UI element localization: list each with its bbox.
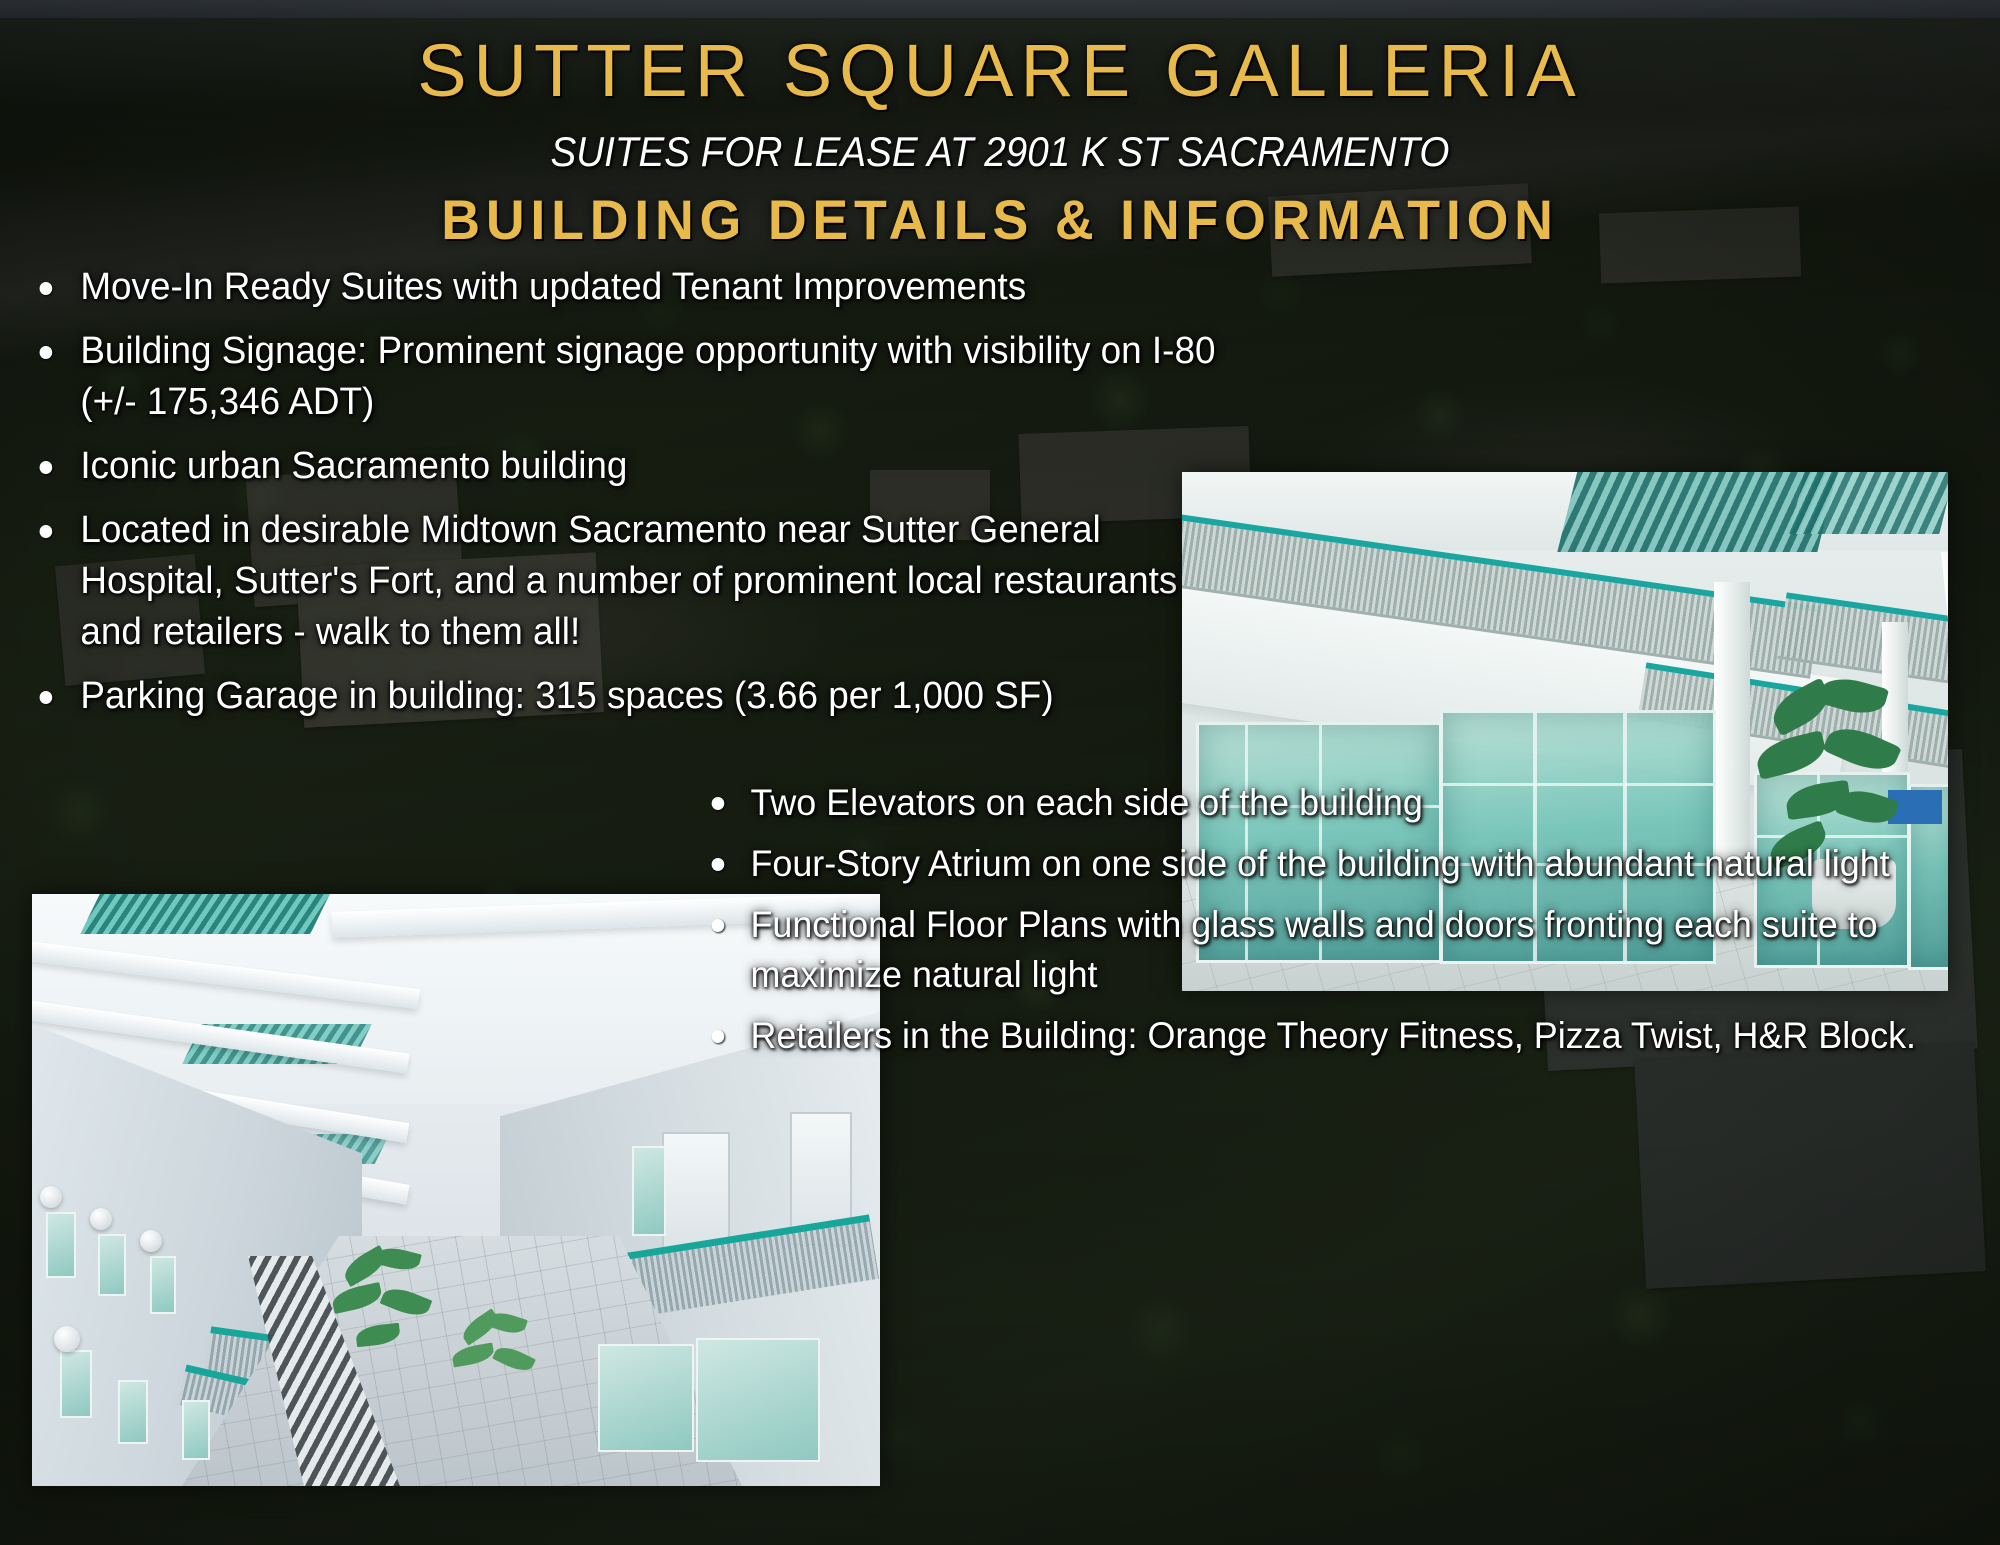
list-item: Located in desirable Midtown Sacramento …	[26, 505, 1234, 658]
section-heading: BUILDING DETAILS & INFORMATION	[40, 192, 1960, 248]
list-item: Two Elevators on each side of the buildi…	[700, 778, 1961, 828]
list-item: Parking Garage in building: 315 spaces (…	[26, 671, 1234, 722]
atrium-planting	[332, 1249, 452, 1369]
building-features-list: Two Elevators on each side of the buildi…	[700, 778, 2000, 1072]
list-item: Retailers in the Building: Orange Theory…	[700, 1011, 1961, 1061]
list-item: Functional Floor Plans with glass walls …	[700, 900, 1961, 1000]
page-subtitle: SUITES FOR LEASE AT 2901 K ST SACRAMENTO	[80, 131, 1920, 173]
list-item: Iconic urban Sacramento building	[26, 441, 1234, 492]
building-details-list: Move-In Ready Suites with updated Tenant…	[26, 262, 1271, 735]
list-item: Move-In Ready Suites with updated Tenant…	[26, 262, 1234, 313]
flyer-canvas: SUTTER SQUARE GALLERIA SUITES FOR LEASE …	[0, 0, 2000, 1545]
page-title: SUTTER SQUARE GALLERIA	[0, 34, 2000, 108]
list-item: Four-Story Atrium on one side of the bui…	[700, 839, 1961, 889]
list-item: Building Signage: Prominent signage oppo…	[26, 326, 1234, 428]
